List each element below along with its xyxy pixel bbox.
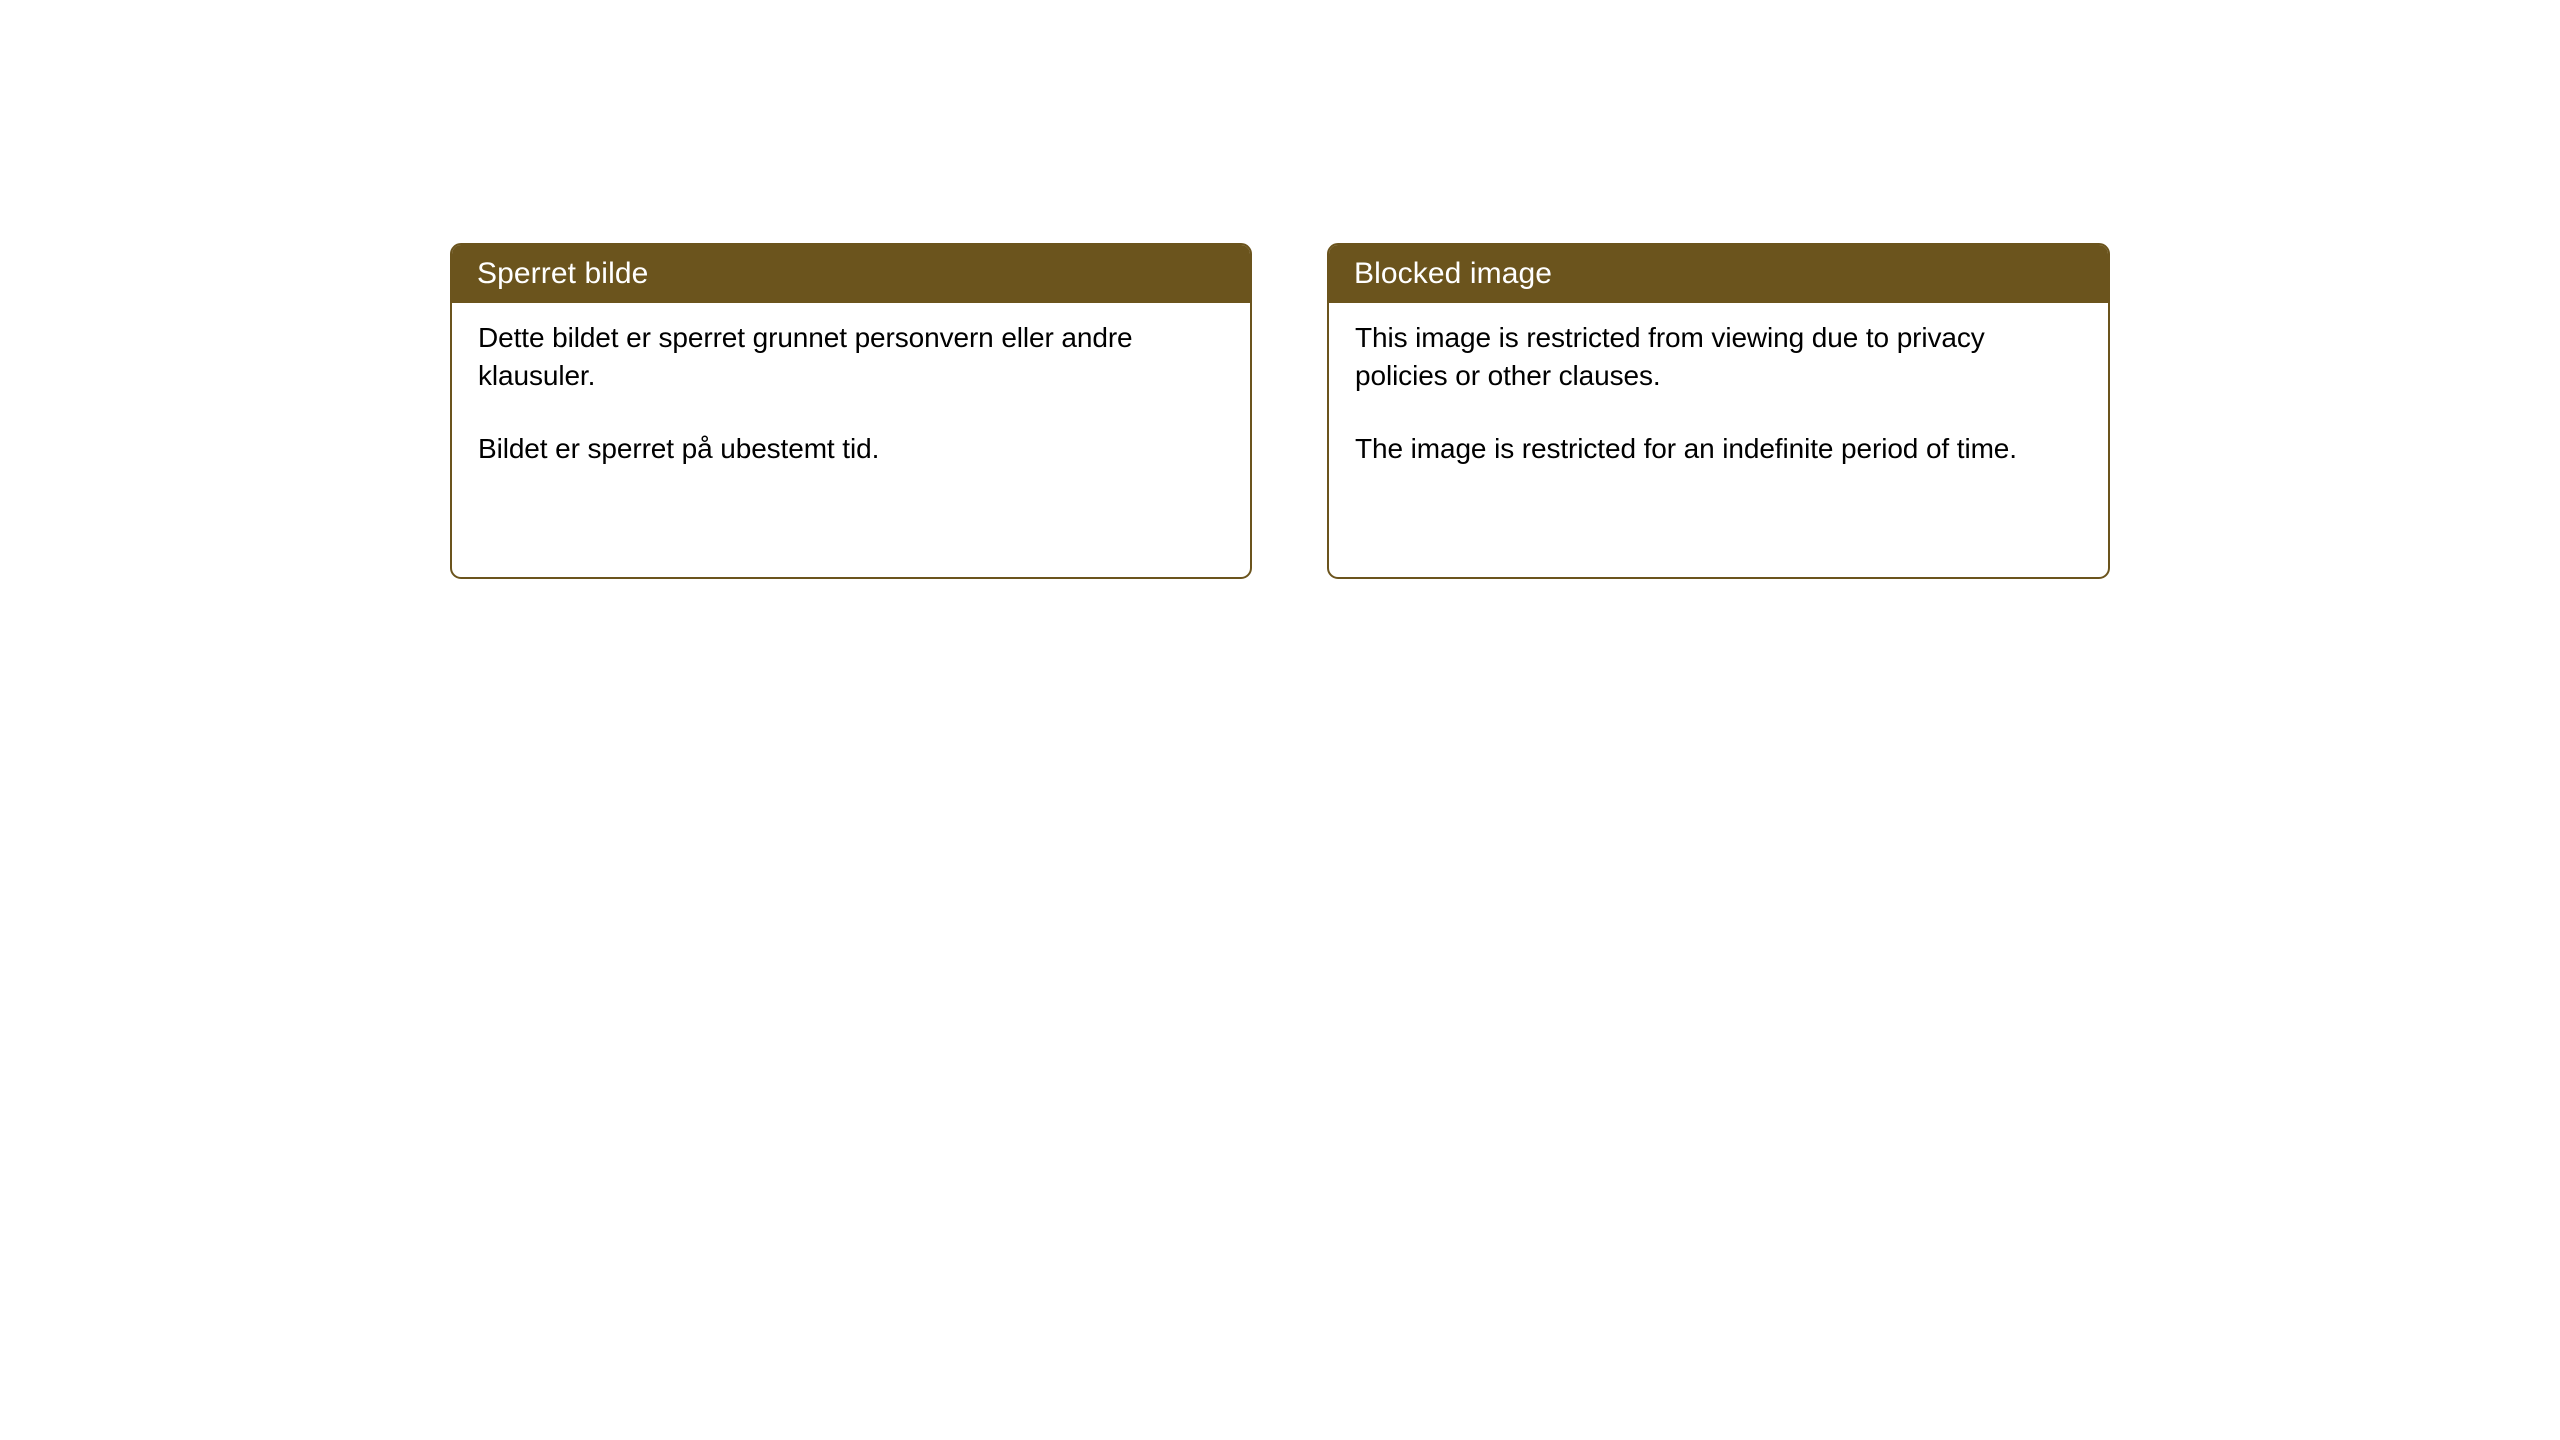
card-paragraph-duration-norwegian: Bildet er sperret på ubestemt tid. (478, 430, 1178, 468)
card-header-norwegian: Sperret bilde (450, 243, 1252, 303)
blocked-image-card-english: Blocked image This image is restricted f… (1327, 243, 2110, 579)
card-paragraph-reason-english: This image is restricted from viewing du… (1355, 319, 2055, 394)
card-paragraph-reason-norwegian: Dette bildet er sperret grunnet personve… (478, 319, 1178, 394)
card-paragraph-duration-english: The image is restricted for an indefinit… (1355, 430, 2055, 468)
card-header-english: Blocked image (1327, 243, 2110, 303)
card-title-norwegian: Sperret bilde (477, 259, 648, 289)
blocked-image-card-norwegian: Sperret bilde Dette bildet er sperret gr… (450, 243, 1252, 579)
card-body-english: This image is restricted from viewing du… (1329, 303, 2108, 468)
blocked-image-notice-area: Sperret bilde Dette bildet er sperret gr… (450, 243, 2110, 583)
card-title-english: Blocked image (1354, 259, 1552, 289)
card-body-norwegian: Dette bildet er sperret grunnet personve… (452, 303, 1250, 468)
